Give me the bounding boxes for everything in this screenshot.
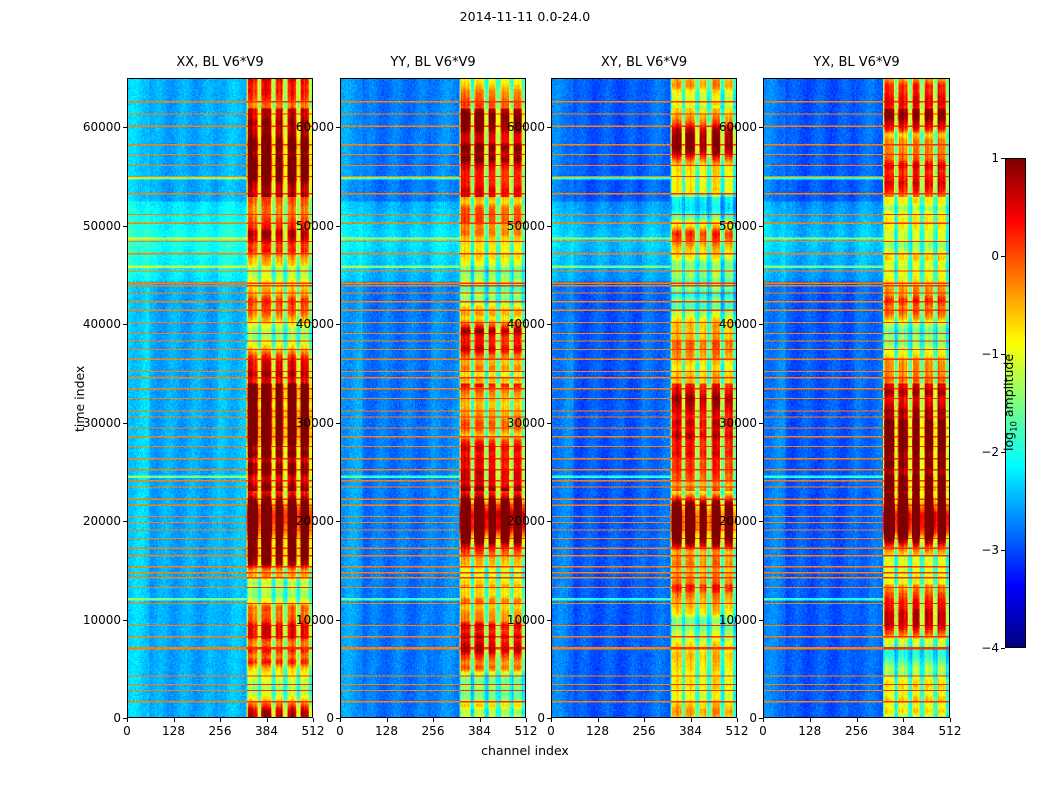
y-tick-mark-xy-1	[547, 620, 551, 621]
y-tick-label-yy-5: 50000	[278, 219, 334, 233]
x-tick-label-yy-4: 512	[515, 724, 538, 738]
x-tick-mark-xy-0	[551, 718, 552, 722]
x-tick-label-yx-2: 256	[845, 724, 868, 738]
colorbar-tick-label-0: −4	[963, 641, 999, 655]
y-tick-mark-xx-2	[123, 521, 127, 522]
y-tick-label-xy-3: 30000	[489, 416, 545, 430]
y-tick-mark-xx-5	[123, 226, 127, 227]
x-tick-mark-xy-3	[691, 718, 692, 722]
y-tick-mark-yx-4	[759, 324, 763, 325]
y-tick-label-yx-0: 0	[701, 711, 757, 725]
y-tick-label-yx-4: 40000	[701, 317, 757, 331]
y-tick-mark-yx-3	[759, 423, 763, 424]
x-tick-label-yx-4: 512	[939, 724, 962, 738]
x-tick-mark-xx-3	[267, 718, 268, 722]
x-tick-label-xx-3: 384	[255, 724, 278, 738]
colorbar-tick-label-2: −2	[963, 445, 999, 459]
y-tick-label-yy-3: 30000	[278, 416, 334, 430]
x-tick-label-xy-0: 0	[547, 724, 555, 738]
panel-title-xy: XY, BL V6*V9	[551, 55, 737, 73]
figure-suptitle: 2014-11-11 0.0-24.0	[0, 9, 1050, 24]
y-tick-mark-yx-1	[759, 620, 763, 621]
x-tick-label-yx-0: 0	[759, 724, 767, 738]
x-tick-label-xy-1: 128	[586, 724, 609, 738]
x-tick-label-xx-0: 0	[123, 724, 131, 738]
y-tick-label-yx-1: 10000	[701, 613, 757, 627]
y-tick-label-xy-6: 60000	[489, 120, 545, 134]
y-tick-mark-xy-3	[547, 423, 551, 424]
x-tick-mark-yx-3	[903, 718, 904, 722]
x-tick-mark-xy-1	[598, 718, 599, 722]
y-tick-mark-xy-4	[547, 324, 551, 325]
y-tick-label-xx-6: 60000	[65, 120, 121, 134]
y-tick-mark-yy-5	[336, 226, 340, 227]
y-tick-label-xy-0: 0	[489, 711, 545, 725]
colorbar-tick-label-4: 0	[963, 249, 999, 263]
x-tick-label-xy-3: 384	[679, 724, 702, 738]
y-tick-mark-yx-5	[759, 226, 763, 227]
x-tick-label-xx-4: 512	[302, 724, 325, 738]
x-tick-mark-xx-0	[127, 718, 128, 722]
y-tick-mark-yx-2	[759, 521, 763, 522]
x-tick-label-yy-2: 256	[422, 724, 445, 738]
y-axis-label: time index	[72, 366, 87, 432]
y-tick-mark-yy-6	[336, 127, 340, 128]
waterfall-image-yx	[764, 79, 949, 717]
y-tick-label-xx-1: 10000	[65, 613, 121, 627]
y-tick-label-xy-4: 40000	[489, 317, 545, 331]
y-tick-label-xy-2: 20000	[489, 514, 545, 528]
x-tick-mark-xx-2	[220, 718, 221, 722]
colorbar-tick-label-1: −3	[963, 543, 999, 557]
y-tick-label-yy-2: 20000	[278, 514, 334, 528]
y-tick-label-xx-5: 50000	[65, 219, 121, 233]
y-tick-mark-xx-1	[123, 620, 127, 621]
x-tick-mark-yx-2	[857, 718, 858, 722]
x-tick-label-yx-3: 384	[892, 724, 915, 738]
panel-title-xx: XX, BL V6*V9	[127, 55, 313, 73]
y-tick-mark-yy-1	[336, 620, 340, 621]
colorbar-tick-label-3: −1	[963, 347, 999, 361]
colorbar-label: log10 amplitude	[1001, 354, 1020, 451]
y-tick-label-yy-4: 40000	[278, 317, 334, 331]
colorbar-label-base: log	[1001, 432, 1016, 451]
y-tick-label-yx-6: 60000	[701, 120, 757, 134]
y-tick-label-yx-2: 20000	[701, 514, 757, 528]
figure-canvas: 2014-11-11 0.0-24.0 XX, BL V6*V9YY, BL V…	[0, 0, 1050, 800]
colorbar-tick-mark-2	[1001, 452, 1005, 453]
x-tick-label-yy-0: 0	[336, 724, 344, 738]
colorbar-label-subscript: 10	[1010, 421, 1020, 432]
x-tick-mark-xx-1	[174, 718, 175, 722]
y-tick-label-xx-0: 0	[65, 711, 121, 725]
y-tick-mark-yx-6	[759, 127, 763, 128]
y-tick-label-yy-1: 10000	[278, 613, 334, 627]
y-tick-label-yy-0: 0	[278, 711, 334, 725]
x-tick-label-yy-1: 128	[375, 724, 398, 738]
x-tick-label-xx-1: 128	[162, 724, 185, 738]
y-tick-mark-yy-3	[336, 423, 340, 424]
y-tick-label-xx-2: 20000	[65, 514, 121, 528]
panel-title-yy: YY, BL V6*V9	[340, 55, 526, 73]
colorbar-tick-label-5: 1	[963, 151, 999, 165]
y-tick-mark-xx-4	[123, 324, 127, 325]
x-tick-label-xx-2: 256	[209, 724, 232, 738]
x-tick-mark-yx-0	[763, 718, 764, 722]
x-tick-mark-yy-3	[480, 718, 481, 722]
colorbar-label-tail: amplitude	[1001, 354, 1016, 421]
x-tick-mark-yy-2	[433, 718, 434, 722]
y-tick-mark-xy-5	[547, 226, 551, 227]
y-tick-label-xy-5: 50000	[489, 219, 545, 233]
waterfall-panel-yx[interactable]	[763, 78, 950, 718]
x-tick-mark-yx-1	[810, 718, 811, 722]
colorbar-tick-mark-0	[1001, 648, 1005, 649]
y-tick-label-yx-3: 30000	[701, 416, 757, 430]
y-tick-mark-xy-2	[547, 521, 551, 522]
x-tick-mark-yx-4	[950, 718, 951, 722]
y-tick-label-yy-6: 60000	[278, 120, 334, 134]
x-tick-mark-yy-1	[387, 718, 388, 722]
y-tick-mark-xy-6	[547, 127, 551, 128]
colorbar-tick-mark-4	[1001, 256, 1005, 257]
x-tick-label-xy-2: 256	[633, 724, 656, 738]
y-tick-mark-xx-6	[123, 127, 127, 128]
y-tick-mark-xx-3	[123, 423, 127, 424]
x-tick-label-xy-4: 512	[726, 724, 749, 738]
x-tick-label-yx-1: 128	[798, 724, 821, 738]
y-tick-label-yx-5: 50000	[701, 219, 757, 233]
colorbar-tick-mark-1	[1001, 550, 1005, 551]
y-tick-label-xy-1: 10000	[489, 613, 545, 627]
y-tick-mark-yy-4	[336, 324, 340, 325]
colorbar-tick-mark-5	[1001, 158, 1005, 159]
x-tick-mark-xy-2	[644, 718, 645, 722]
y-tick-mark-yy-2	[336, 521, 340, 522]
y-tick-label-xx-4: 40000	[65, 317, 121, 331]
x-axis-label: channel index	[0, 743, 1050, 758]
panel-title-yx: YX, BL V6*V9	[763, 55, 950, 73]
x-tick-mark-yy-0	[340, 718, 341, 722]
x-tick-label-yy-3: 384	[468, 724, 491, 738]
